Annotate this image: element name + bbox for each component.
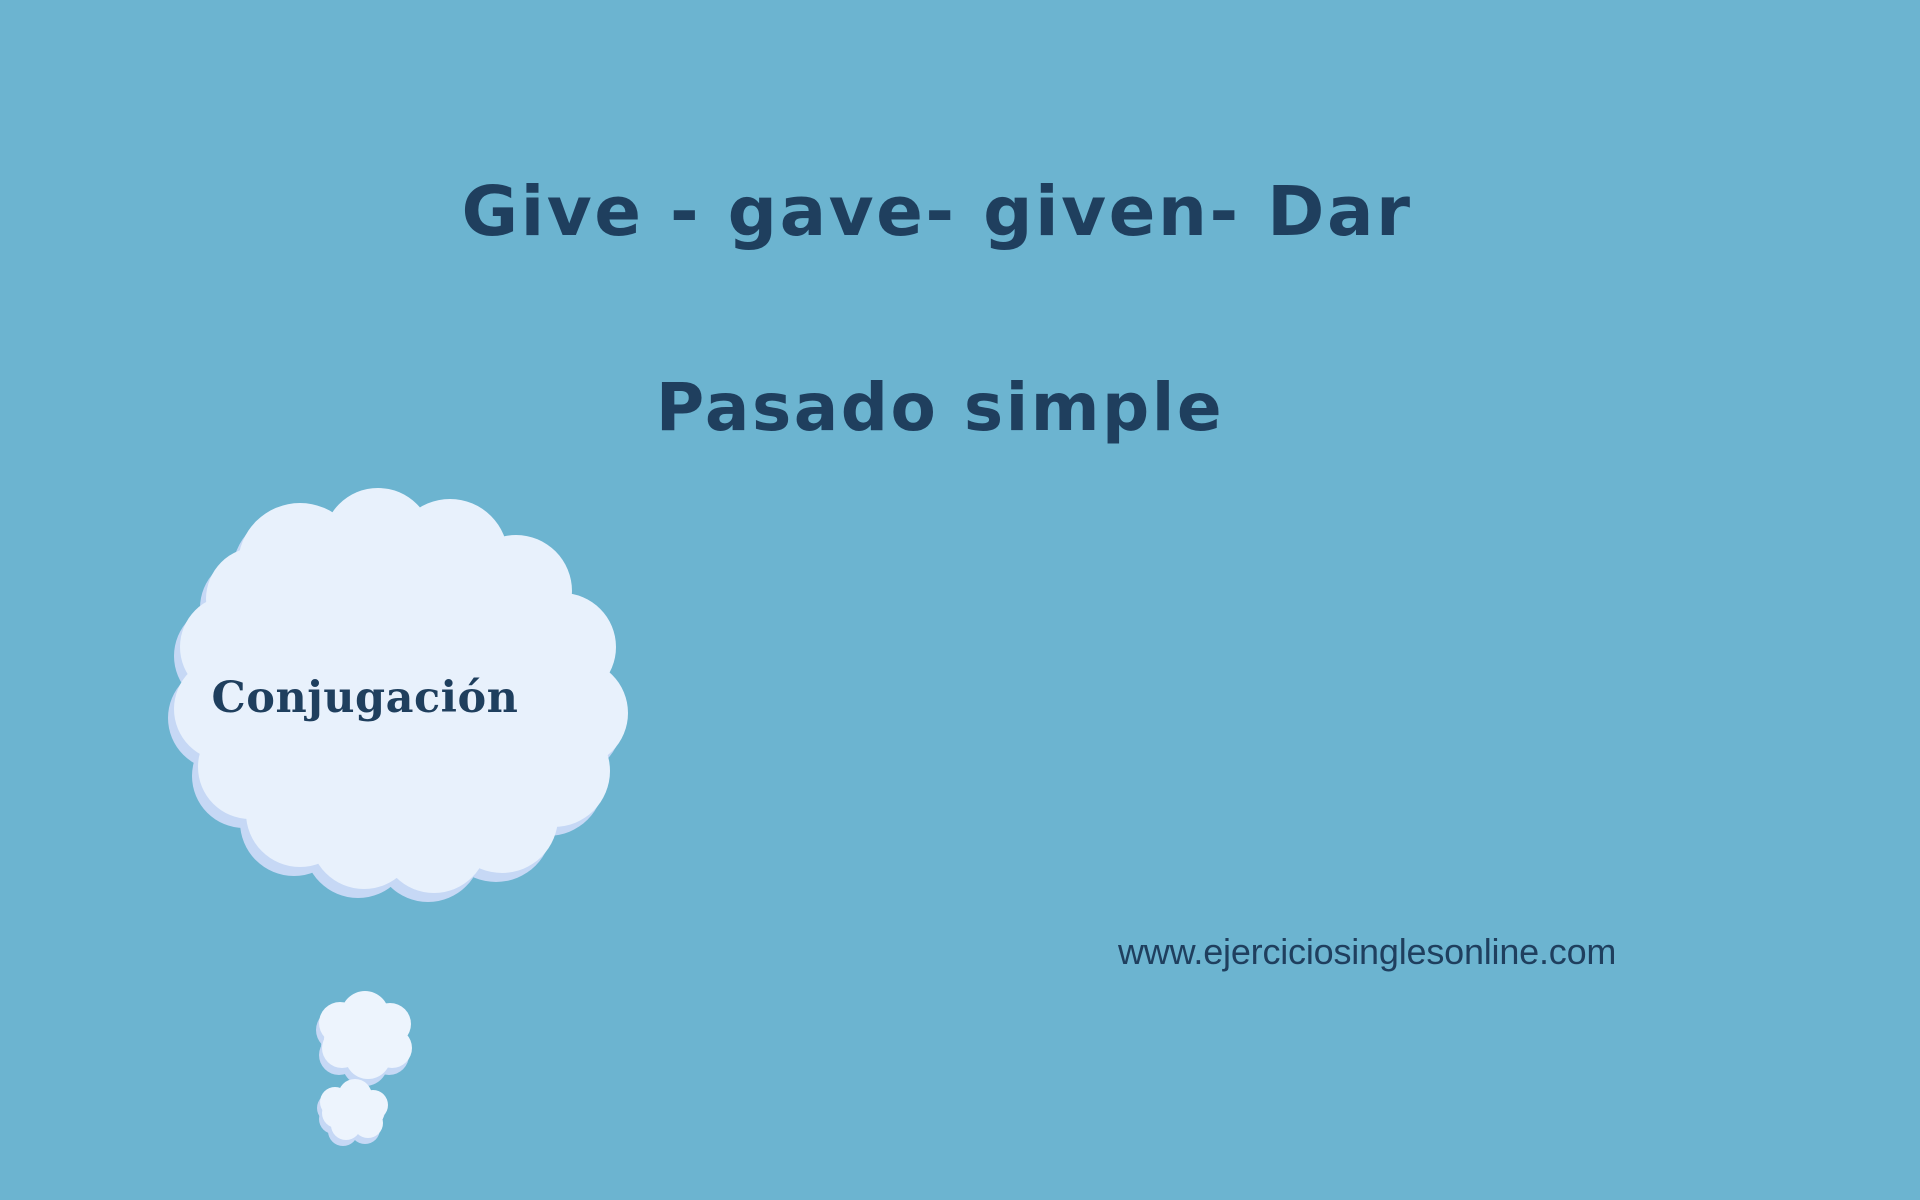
heading-block: Give - gave- given- Dar Pasado simple [0, 0, 1920, 520]
page-title: Give - gave- given- Dar [0, 178, 1874, 247]
website-url[interactable]: www.ejerciciosinglesonline.com [1118, 930, 1616, 973]
thought-bubble-label: Conjugación [150, 677, 580, 720]
page-subtitle: Pasado simple [0, 375, 1880, 441]
thought-bubble-tail [280, 960, 480, 1160]
thought-tail-small-icon [317, 1079, 388, 1146]
slide-canvas: Give - gave- given- Dar Pasado simple [0, 0, 1920, 1200]
thought-bubble: Conjugación [150, 495, 620, 935]
thought-tail-large-icon [316, 991, 412, 1086]
